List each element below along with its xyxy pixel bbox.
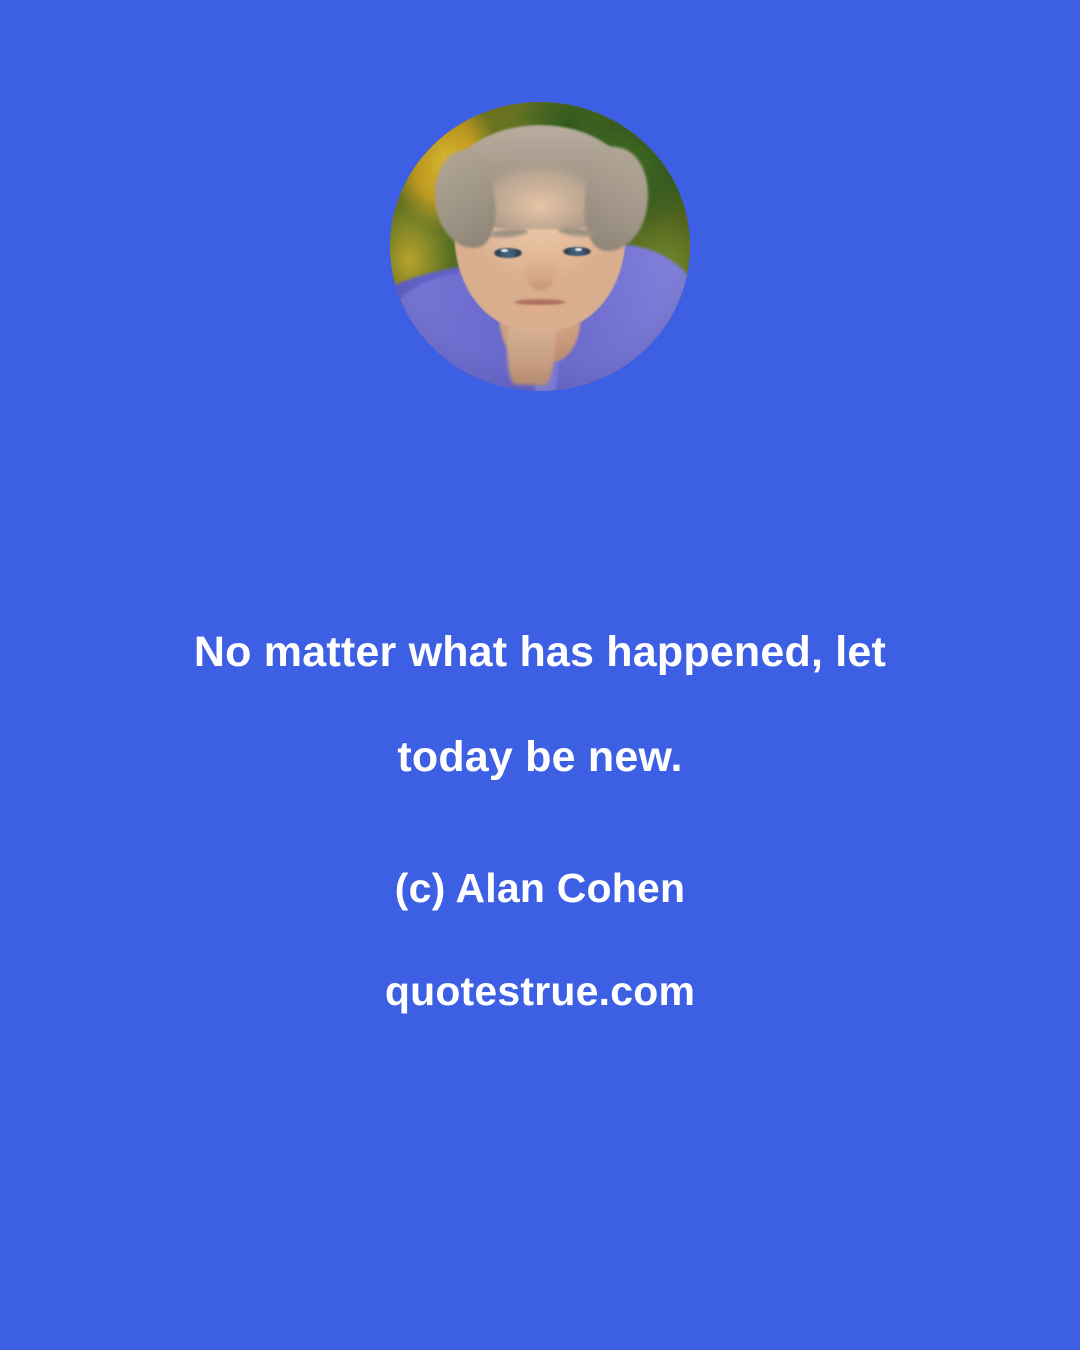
avatar — [390, 102, 690, 391]
nose-shape — [526, 255, 556, 290]
eyebrow-right — [558, 226, 598, 237]
chin-shape — [501, 322, 579, 348]
quote-line-1: No matter what has happened, let — [0, 600, 1080, 705]
shirt-shape — [390, 261, 690, 391]
hair-right-shape — [576, 143, 658, 257]
lower-lip-shape — [519, 306, 561, 313]
quote-attribution: (c) Alan Cohen — [0, 868, 1080, 909]
mouth-shape — [515, 299, 566, 305]
photo-vignette — [390, 102, 690, 391]
eyebrow-left — [489, 227, 529, 238]
head-shape — [455, 134, 626, 331]
eye-highlight-right — [575, 248, 582, 251]
hair-left-shape — [425, 146, 504, 255]
quote-line-2: today be new. — [0, 705, 1080, 810]
collar-shape — [506, 315, 556, 386]
hair-shape — [444, 125, 636, 229]
eye-highlight-left — [501, 249, 508, 252]
shirt-left-shape — [390, 265, 537, 391]
eye-left — [494, 248, 523, 258]
quote-text-block: No matter what has happened, let today b… — [0, 600, 1080, 1012]
shirt-right-shape — [555, 238, 690, 391]
eye-right — [563, 247, 592, 257]
source-website: quotestrue.com — [0, 971, 1080, 1012]
neck-shape — [500, 299, 581, 363]
portrait-image — [390, 102, 690, 391]
quote-card: No matter what has happened, let today b… — [0, 0, 1080, 1350]
